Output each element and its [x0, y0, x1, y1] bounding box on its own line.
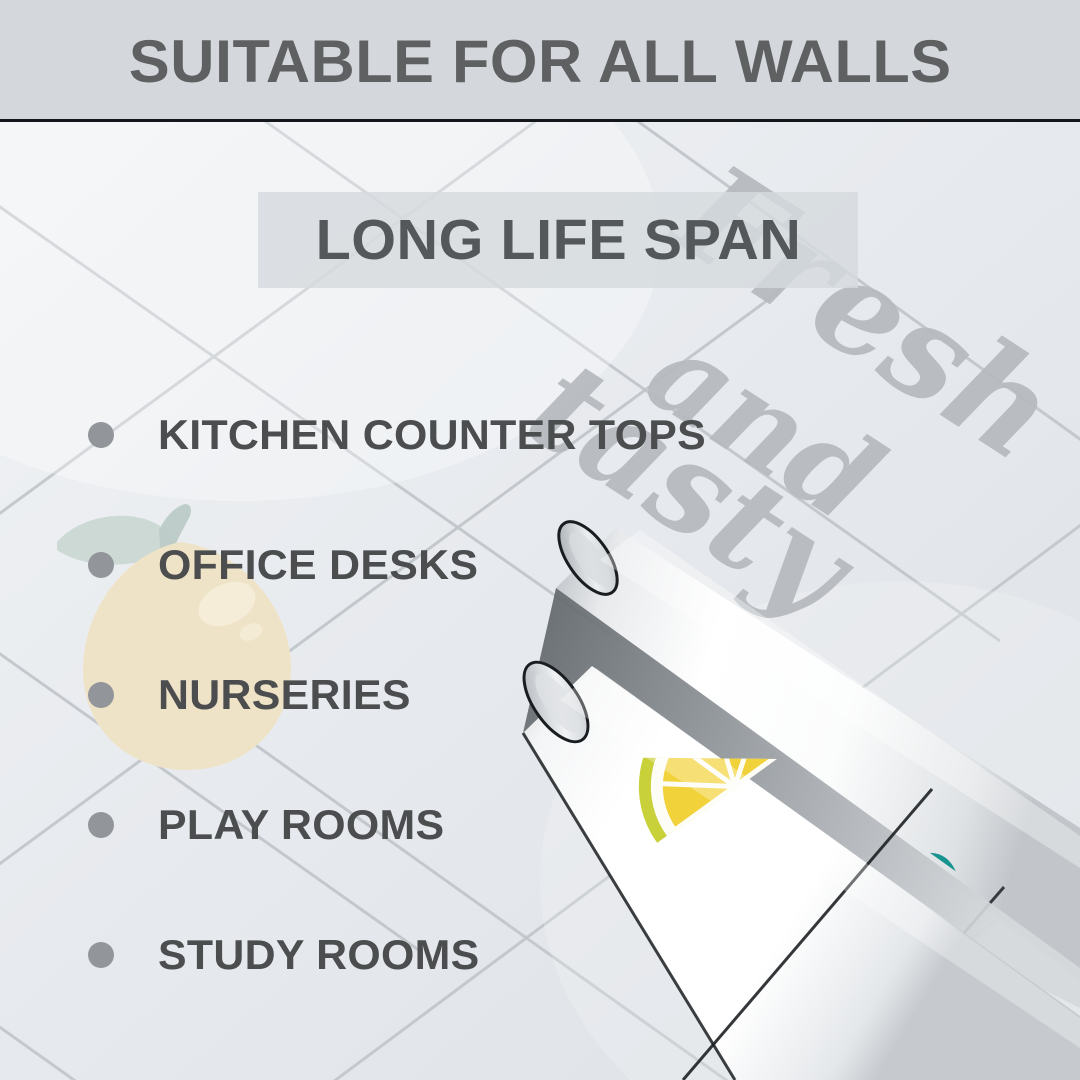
feature-label: PLAY ROOMS — [158, 804, 444, 846]
list-item: OFFICE DESKS — [88, 500, 788, 630]
list-item: NURSERIES — [88, 630, 788, 760]
header-bar: SUITABLE FOR ALL WALLS — [0, 0, 1080, 121]
header-divider — [0, 119, 1080, 122]
bullet-icon — [88, 422, 114, 448]
bullet-icon — [88, 682, 114, 708]
banner-title: LONG LIFE SPAN — [315, 212, 801, 269]
bullet-icon — [88, 942, 114, 968]
bullet-icon — [88, 552, 114, 578]
long-life-span-banner: LONG LIFE SPAN — [258, 192, 858, 288]
product-feature-panel: Fresh and tasty LONG LIFE SPAN KITCHEN C… — [0, 0, 1080, 1080]
list-item: KITCHEN COUNTER TOPS — [88, 370, 788, 500]
feature-label: OFFICE DESKS — [158, 544, 478, 586]
list-item: STUDY ROOMS — [88, 890, 788, 1020]
feature-list: KITCHEN COUNTER TOPS OFFICE DESKS NURSER… — [88, 370, 788, 1020]
feature-label: STUDY ROOMS — [158, 934, 480, 976]
bullet-icon — [88, 812, 114, 838]
page-title: SUITABLE FOR ALL WALLS — [129, 32, 952, 92]
feature-label: NURSERIES — [158, 674, 411, 716]
feature-label: KITCHEN COUNTER TOPS — [158, 414, 706, 456]
list-item: PLAY ROOMS — [88, 760, 788, 890]
